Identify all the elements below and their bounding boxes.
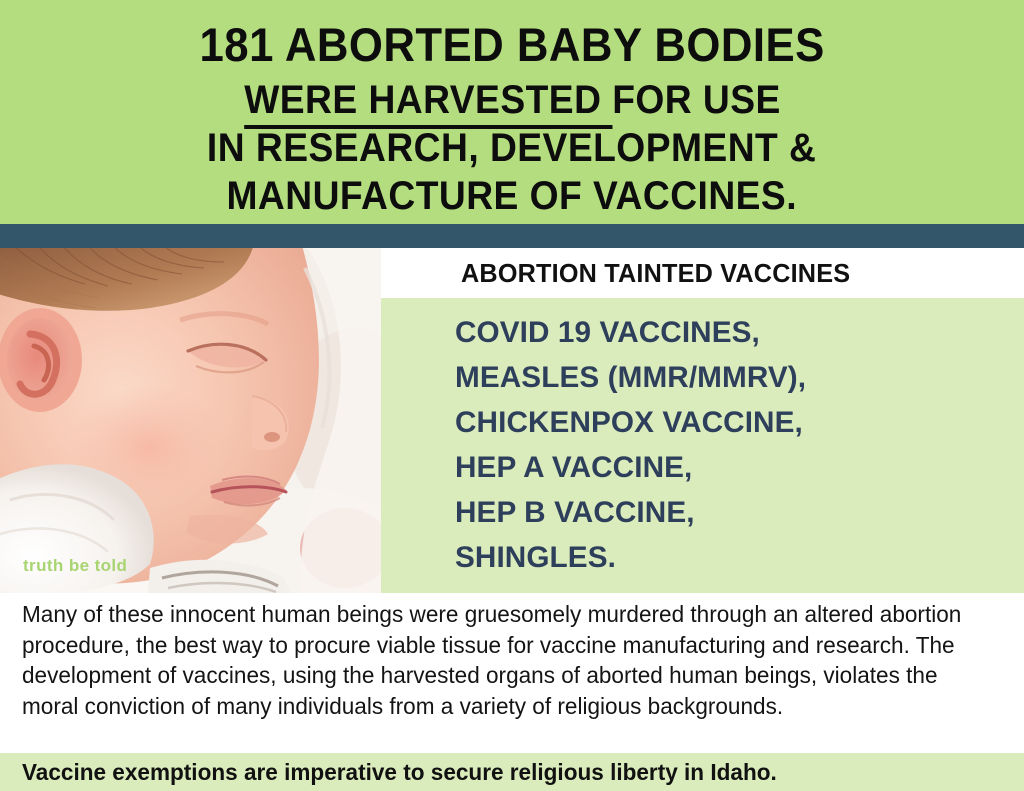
header-banner: 181 ABORTED BABY BODIES WERE HARVESTED F… bbox=[0, 0, 1024, 224]
panel-title: ABORTION TAINTED VACCINES bbox=[461, 258, 850, 289]
headline-line-2-rest: FOR USE bbox=[612, 78, 781, 122]
footer-statement: Vaccine exemptions are imperative to sec… bbox=[22, 759, 777, 786]
headline-line-2: WERE HARVESTED FOR USE bbox=[244, 80, 781, 120]
panel-title-band: ABORTION TAINTED VACCINES bbox=[381, 248, 1024, 298]
vaccine-list-item: MEASLES (MMR/MMRV), bbox=[455, 355, 1018, 400]
body-paragraph: Many of these innocent human beings were… bbox=[22, 599, 963, 721]
poster-root: 181 ABORTED BABY BODIES WERE HARVESTED F… bbox=[0, 0, 1024, 791]
vaccine-list-item: COVID 19 VACCINES, bbox=[455, 310, 1018, 355]
headline-line-3: IN RESEARCH, DEVELOPMENT & bbox=[207, 128, 816, 168]
vaccine-list-panel: COVID 19 VACCINES, MEASLES (MMR/MMRV), C… bbox=[381, 298, 1024, 593]
vaccine-list-item: CHICKENPOX VACCINE, bbox=[455, 400, 1018, 445]
vaccine-list-item: HEP B VACCINE, bbox=[455, 490, 1018, 535]
body-paragraph-section: Many of these innocent human beings were… bbox=[0, 593, 1024, 753]
headline-line-1: 181 ABORTED BABY BODIES bbox=[199, 21, 824, 68]
baby-photo-illustration bbox=[0, 248, 381, 593]
vaccine-list-item: HEP A VACCINE, bbox=[455, 445, 1018, 490]
headline-underlined-phrase: WERE HARVESTED bbox=[244, 78, 612, 129]
footer-statement-bar: Vaccine exemptions are imperative to sec… bbox=[0, 753, 1024, 791]
headline-line-4: MANUFACTURE OF VACCINES. bbox=[227, 176, 798, 216]
baby-photo: truth be told bbox=[0, 248, 381, 593]
vaccine-list-item: SHINGLES. bbox=[455, 535, 1018, 580]
navy-divider-bar bbox=[0, 224, 1024, 248]
watermark-text: truth be told bbox=[23, 556, 127, 576]
